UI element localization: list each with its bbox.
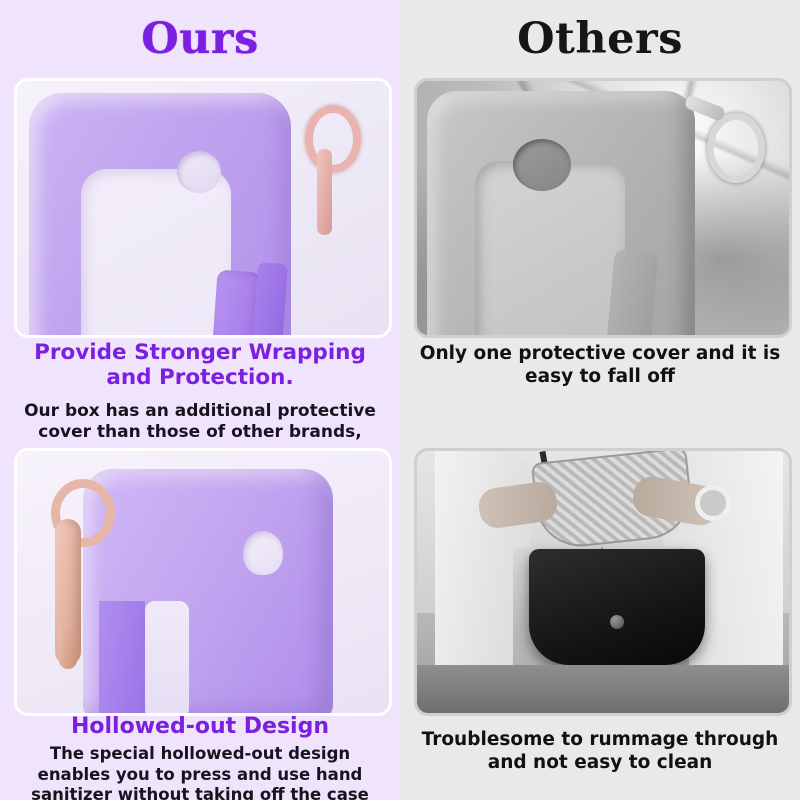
lobster-clip-tip — [59, 629, 77, 669]
ours-title: Ours — [0, 14, 400, 64]
ours-top-image — [14, 78, 392, 338]
case-top-hole — [177, 151, 221, 193]
rose-gold-clip-icon — [303, 105, 349, 237]
others-bottom-body: Troublesome to rummage through and not e… — [414, 728, 786, 774]
case-leg-column — [99, 601, 145, 716]
case-cutout-window — [81, 169, 231, 338]
clip-bar — [317, 149, 332, 235]
metal-clip-bar — [684, 94, 726, 122]
ours-bottom-caption: Hollowed-out Design The special hollowed… — [14, 714, 386, 800]
black-handbag — [529, 549, 705, 665]
ours-top-headline: Provide Stronger Wrapping and Protection… — [14, 340, 386, 391]
bag-stud — [610, 615, 624, 629]
rose-gold-lobster-clip-icon — [35, 479, 105, 669]
case-hollow-gap — [145, 601, 189, 716]
others-title: Others — [400, 14, 800, 64]
others-bottom-caption: Troublesome to rummage through and not e… — [414, 728, 786, 774]
ours-bottom-body: The special hollowed-out design enables … — [14, 744, 386, 800]
others-top-caption: Only one protective cover and it is easy… — [414, 342, 786, 388]
others-top-image — [414, 78, 792, 338]
metal-clip-icon — [685, 95, 755, 191]
ours-bottom-image — [14, 448, 392, 716]
ours-top-body: Our box has an additional protective cov… — [14, 401, 386, 444]
scene-ground — [417, 665, 789, 713]
case-side-notch — [243, 531, 283, 575]
others-bottom-image — [414, 448, 792, 716]
ours-bottom-headline: Hollowed-out Design — [14, 714, 386, 740]
grey-case-top-hole — [513, 139, 571, 191]
comparison-infographic: Ours Others Provide Strong — [0, 0, 800, 800]
wrist-watch-icon — [695, 485, 731, 521]
clip-ring — [305, 105, 361, 173]
ours-top-caption: Provide Stronger Wrapping and Protection… — [14, 340, 386, 443]
grey-case-body — [427, 91, 695, 338]
metal-clip-ring — [707, 113, 765, 183]
others-top-body: Only one protective cover and it is easy… — [414, 342, 786, 388]
